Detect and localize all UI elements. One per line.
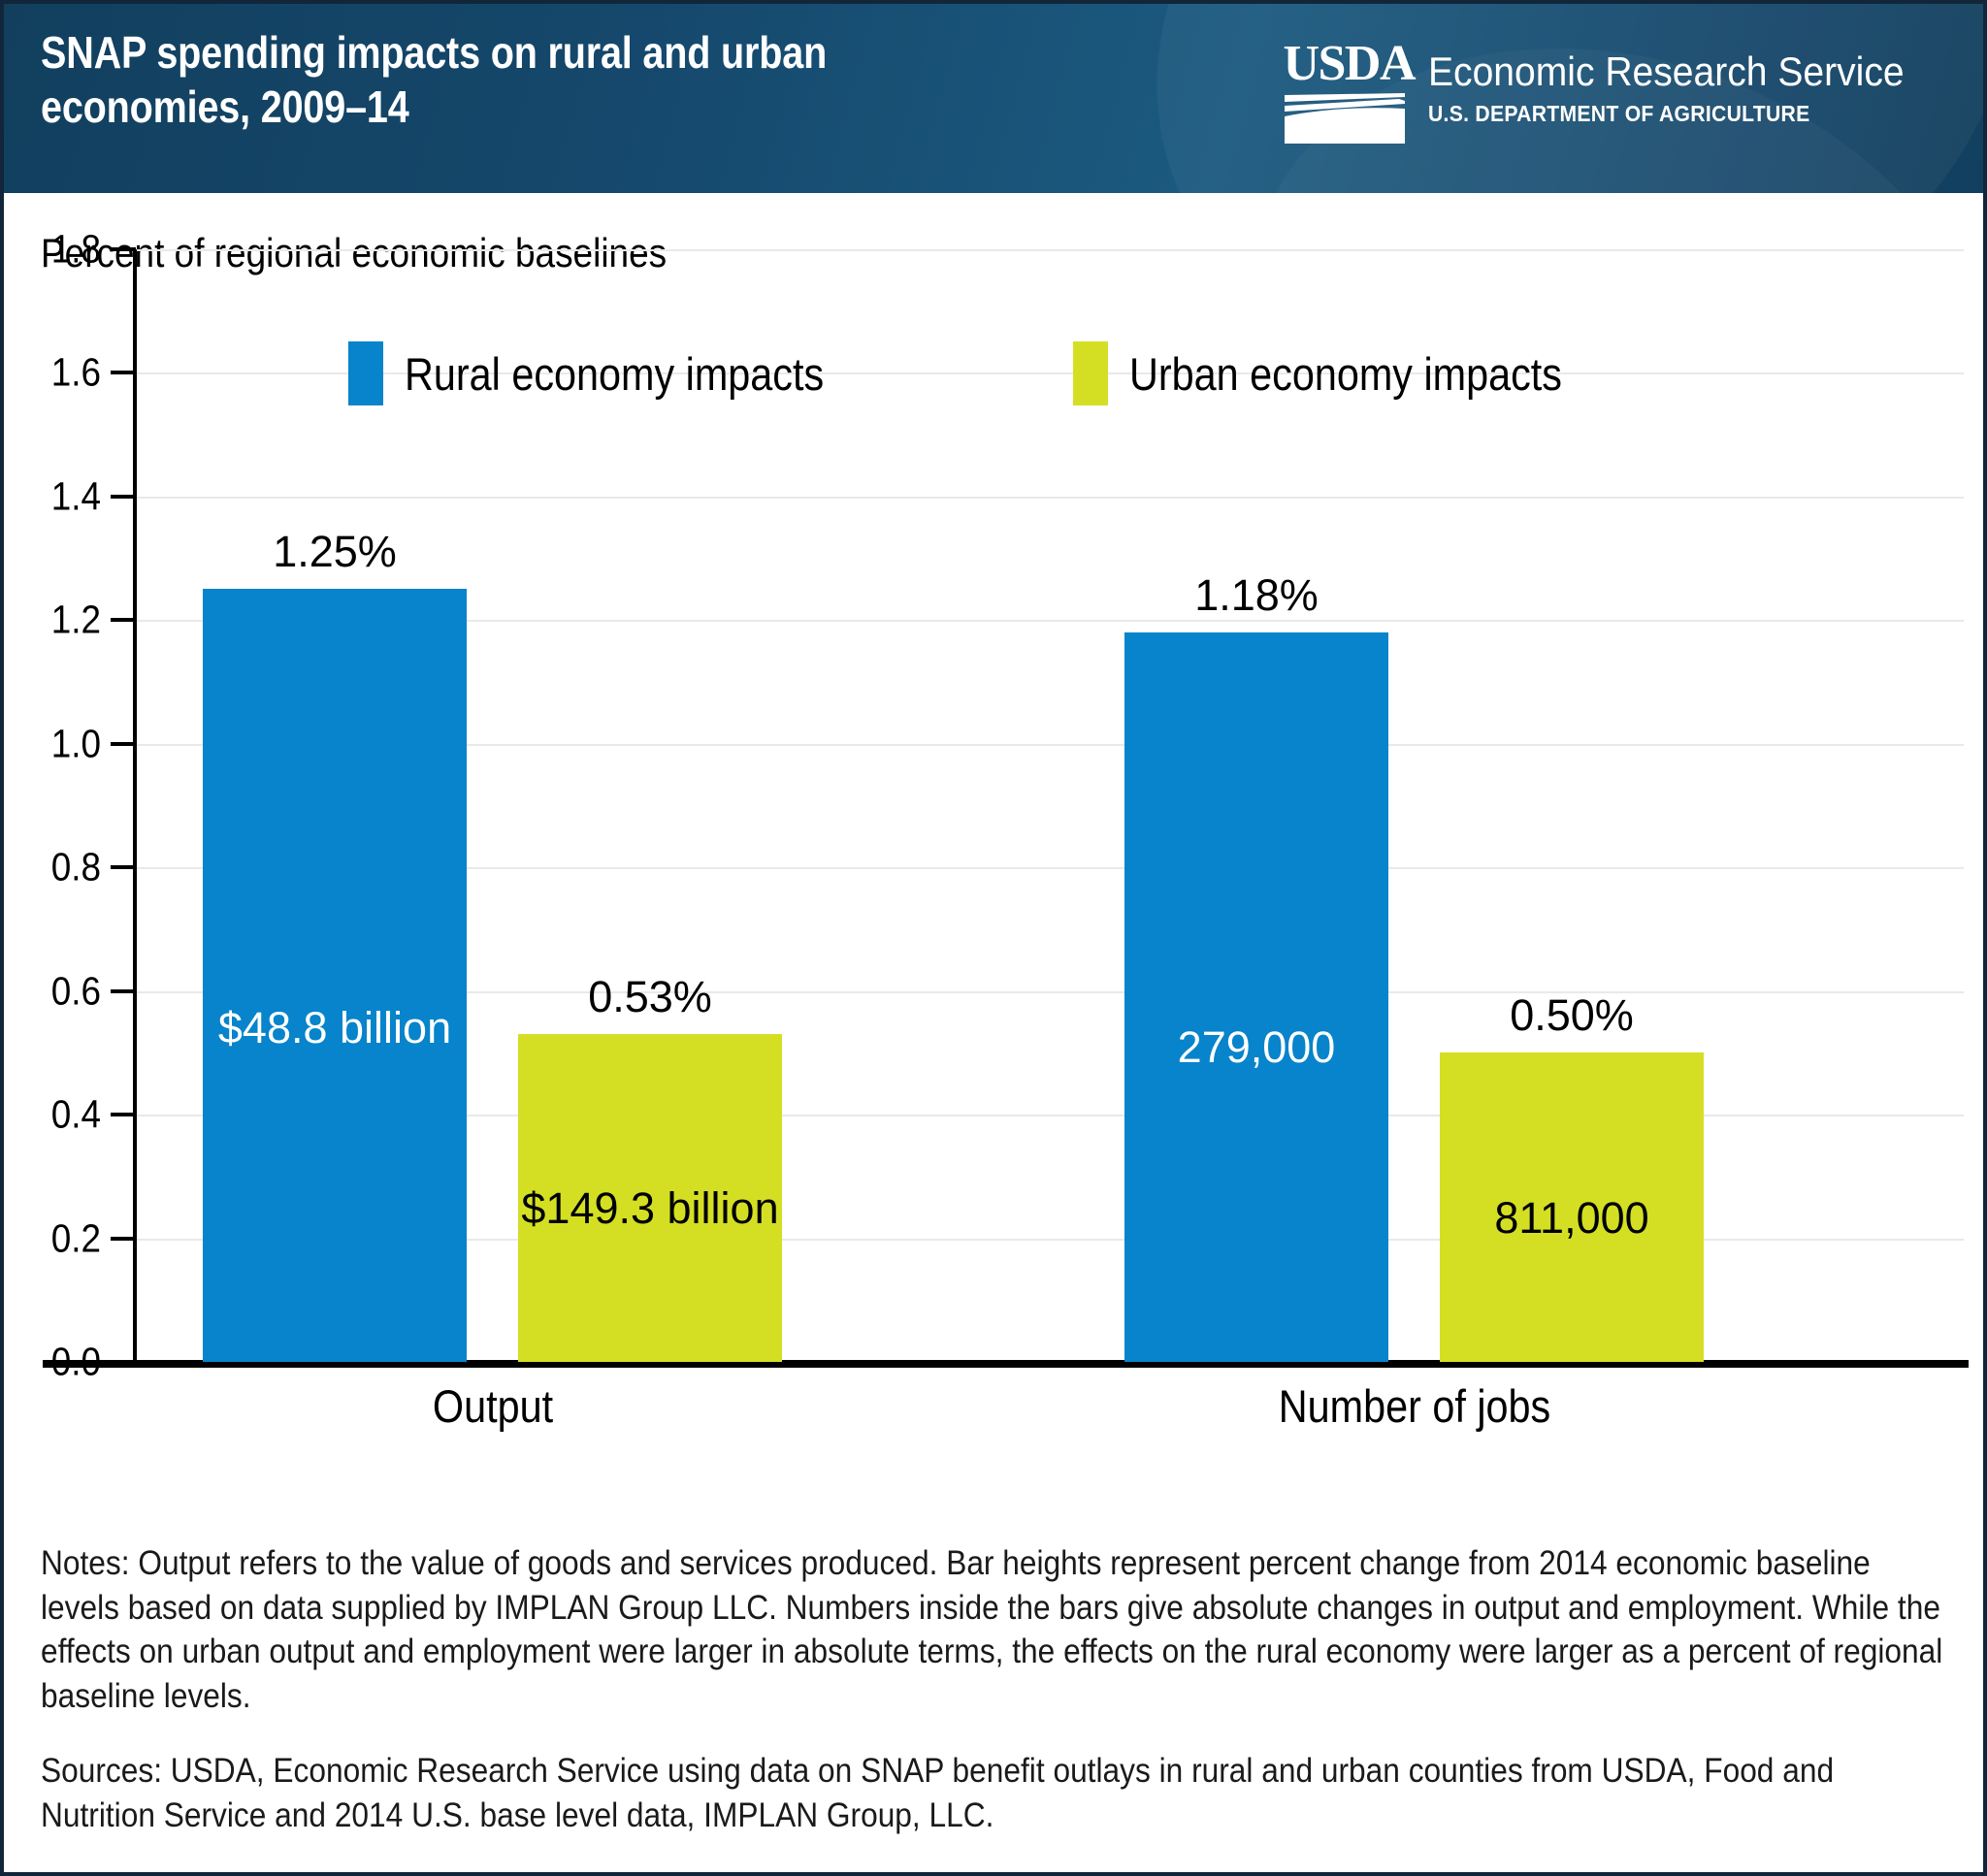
legend-label-rural: Rural economy impacts <box>405 347 824 401</box>
bar-inner-label: $149.3 billion <box>521 1183 778 1234</box>
bar-inner-label: 279,000 <box>1178 1022 1336 1073</box>
sources-text: Sources: USDA, Economic Research Service… <box>41 1749 1946 1837</box>
legend-swatch-urban-icon <box>1073 341 1108 405</box>
x-category-label: Output <box>237 1379 749 1433</box>
y-tick-label: 1.8 <box>14 227 101 273</box>
chart-legend: Rural economy impacts Urban economy impa… <box>348 341 1621 405</box>
bar-inner-label: 811,000 <box>1494 1193 1648 1244</box>
bar-value-label: 1.25% <box>273 527 397 577</box>
legend-item-rural[interactable]: Rural economy impacts <box>348 341 881 405</box>
bar-urban-1[interactable]: 0.50%811,000 <box>1440 1052 1704 1362</box>
y-tick-label: 0.2 <box>14 1215 101 1261</box>
legend-item-urban[interactable]: Urban economy impacts <box>1073 341 1621 405</box>
bar-inner-label: $48.8 billion <box>218 1003 451 1053</box>
bar-value-label: 0.50% <box>1510 990 1634 1041</box>
bar-rural-1[interactable]: 1.18%279,000 <box>1124 632 1388 1362</box>
y-tick-label: 1.6 <box>14 350 101 396</box>
y-tick-label: 1.4 <box>14 473 101 519</box>
bar-urban-0[interactable]: 0.53%$149.3 billion <box>518 1034 782 1362</box>
x-category-label: Number of jobs <box>1158 1379 1671 1433</box>
chart-page: SNAP spending impacts on rural and urban… <box>0 0 1987 1876</box>
bar-value-label: 0.53% <box>588 972 712 1022</box>
y-tick-label: 1.0 <box>14 721 101 766</box>
gridline <box>135 497 1964 499</box>
legend-swatch-rural-icon <box>348 341 383 405</box>
legend-label-urban: Urban economy impacts <box>1129 347 1562 401</box>
y-tick-label: 1.2 <box>14 598 101 643</box>
notes-text: Notes: Output refers to the value of goo… <box>41 1541 1946 1718</box>
y-tick-label: 0.4 <box>14 1092 101 1138</box>
gridline <box>135 249 1964 251</box>
bar-value-label: 1.18% <box>1194 570 1319 621</box>
y-tick-label: 0.8 <box>14 845 101 890</box>
y-tick-label: 0.6 <box>14 968 101 1014</box>
y-axis-line <box>133 249 137 1362</box>
footnotes: Notes: Output refers to the value of goo… <box>41 1541 1954 1837</box>
bar-rural-0[interactable]: 1.25%$48.8 billion <box>203 589 467 1362</box>
